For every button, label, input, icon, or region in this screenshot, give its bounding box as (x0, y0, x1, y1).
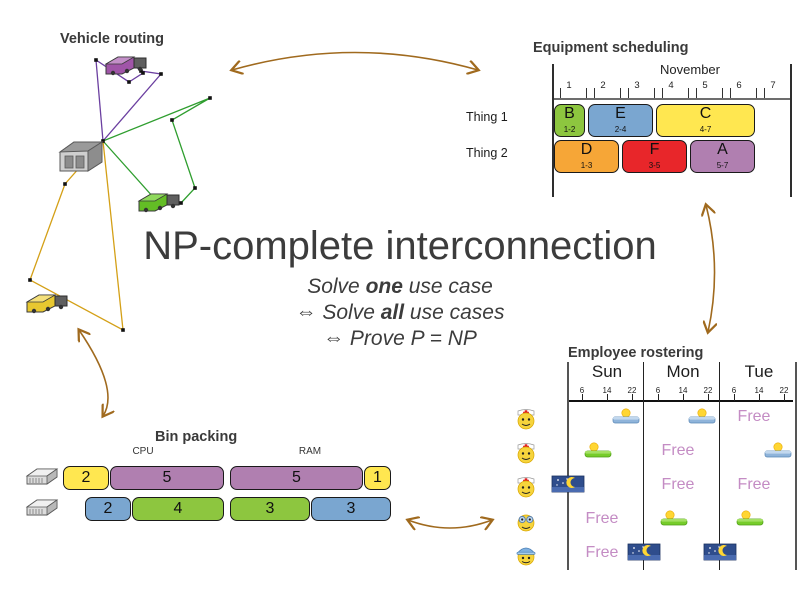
bin-item-value: 5 (111, 468, 223, 488)
bin-resource-header-ram: RAM (270, 446, 350, 457)
center-text-block: NP-complete interconnection Solve one us… (0, 222, 800, 352)
bin-item-value: 1 (365, 468, 390, 488)
bin-item-value: 4 (133, 499, 223, 519)
schedule-tick (560, 88, 561, 98)
roster-cell-morning-shift[interactable] (659, 508, 693, 528)
task-range: 5-7 (691, 161, 754, 171)
green-truck-icon (137, 189, 181, 213)
roster-tick (784, 394, 785, 401)
bin-item[interactable]: 4 (132, 497, 224, 521)
route-node (94, 58, 98, 62)
employee-nurse-1[interactable] (515, 406, 539, 432)
roster-cell-free[interactable]: Free (571, 544, 633, 562)
roster-cell-free[interactable]: Free (723, 476, 785, 494)
bin-packing-chart: CPURAM 25512433 (25, 446, 400, 541)
schedule-tick (696, 88, 697, 98)
schedule-tick (756, 88, 757, 98)
schedule-task-E[interactable]: E2-4 (588, 104, 653, 137)
route-node (127, 80, 131, 84)
schedule-axis (552, 98, 792, 100)
bin-item[interactable]: 3 (230, 497, 310, 521)
schedule-tick (654, 88, 655, 98)
afternoon-shift-icon (685, 406, 719, 426)
employee-nurse-3[interactable] (515, 474, 539, 500)
task-name: B (555, 104, 584, 124)
roster-tick (582, 394, 583, 401)
bin-resource-header-cpu: CPU (103, 446, 183, 457)
task-range: 2-4 (589, 125, 652, 135)
roster-day-sun: Sun (572, 362, 642, 382)
afternoon-shift-icon (609, 406, 643, 426)
schedule-day-7: 7 (766, 80, 780, 91)
schedule-task-C[interactable]: C4-7 (656, 104, 755, 137)
task-name: F (623, 140, 686, 160)
schedule-right-border (790, 64, 792, 197)
nurse-face-icon (515, 474, 537, 498)
bin-item-value: 2 (64, 468, 108, 488)
roster-day-divider (719, 362, 720, 570)
center-subtitle: Solve one use case ⇔ Solve all use cases… (0, 274, 800, 352)
roster-tick (683, 394, 684, 401)
schedule-row-label-2: Thing 2 (466, 146, 508, 160)
equipment-scheduling-title: Equipment scheduling (533, 40, 688, 56)
employee-rostering-title: Employee rostering (568, 345, 703, 361)
schedule-tick (620, 88, 621, 98)
task-name: A (691, 140, 754, 160)
route-node (208, 96, 212, 100)
night-shift-icon (703, 542, 737, 562)
arrow-routing-scheduling (232, 53, 478, 71)
bin-item-value: 2 (86, 499, 130, 519)
glasses-face-icon (515, 508, 537, 532)
roster-cell-morning-shift[interactable] (735, 508, 769, 528)
roster-cell-free[interactable]: Free (647, 442, 709, 460)
schedule-day-2: 2 (596, 80, 610, 91)
bin-item[interactable]: 1 (364, 466, 391, 490)
roster-cell-night-shift[interactable] (703, 542, 737, 562)
schedule-tick (722, 88, 723, 98)
schedule-tick (628, 88, 629, 98)
server-icon[interactable] (25, 496, 59, 518)
equipment-scheduling-chart: November 1234567 Thing 1Thing 2 B1-2E2-4… (530, 62, 792, 197)
purple-truck-icon (104, 52, 148, 76)
roster-cell-morning-shift[interactable] (583, 440, 617, 460)
schedule-row-label-1: Thing 1 (466, 110, 508, 124)
helmet-face-icon (515, 542, 537, 566)
bin-item[interactable]: 5 (230, 466, 363, 490)
roster-tick (658, 394, 659, 401)
nurse-face-icon (515, 440, 537, 464)
task-name: C (657, 104, 754, 124)
roster-tick (708, 394, 709, 401)
roster-cell-afternoon-shift[interactable] (685, 406, 719, 426)
bin-item[interactable]: 5 (110, 466, 224, 490)
roster-day-tue: Tue (724, 362, 794, 382)
morning-shift-icon (659, 508, 693, 528)
employee-nurse-2[interactable] (515, 440, 539, 466)
subtitle-line-1: Solve one use case (0, 274, 800, 300)
roster-tick (607, 394, 608, 401)
route-node (63, 182, 67, 186)
route-node (159, 72, 163, 76)
subtitle-line-2: ⇔ Solve all use cases (0, 300, 800, 326)
schedule-month-label: November (590, 62, 790, 77)
schedule-tick (688, 88, 689, 98)
schedule-day-1: 1 (562, 80, 576, 91)
bin-item-value: 3 (231, 499, 309, 519)
afternoon-shift-icon (761, 440, 795, 460)
task-range: 1-3 (555, 161, 618, 171)
roster-day-divider (643, 362, 644, 570)
roster-cell-night-shift[interactable] (551, 474, 585, 494)
vehicle-routing-title: Vehicle routing (60, 31, 164, 47)
route-node (170, 118, 174, 122)
schedule-tick (764, 88, 765, 98)
roster-cell-free[interactable]: Free (723, 408, 785, 426)
bin-item[interactable]: 2 (85, 497, 131, 521)
task-range: 3-5 (623, 161, 686, 171)
night-shift-icon (551, 474, 585, 494)
task-name: E (589, 104, 652, 124)
night-shift-icon (627, 542, 661, 562)
roster-tick (632, 394, 633, 401)
bin-packing-title: Bin packing (155, 429, 237, 445)
employee-rostering-chart: SunMonTue 614226142261422 FreeFreeFreeFr… (515, 362, 793, 574)
depot-icon (58, 140, 104, 174)
schedule-tick (662, 88, 663, 98)
roster-cell-free[interactable]: Free (647, 476, 709, 494)
bin-item-value: 3 (312, 499, 390, 519)
roster-day-divider (567, 362, 569, 570)
employee-doctor-glasses[interactable] (515, 508, 539, 534)
schedule-task-F[interactable]: F3-5 (622, 140, 687, 173)
roster-cell-free[interactable]: Free (571, 510, 633, 528)
bin-item-value: 5 (231, 468, 362, 488)
morning-shift-icon (735, 508, 769, 528)
green-route (103, 98, 210, 203)
roster-tick (734, 394, 735, 401)
roster-cell-afternoon-shift[interactable] (761, 440, 795, 460)
schedule-tick (730, 88, 731, 98)
arrow-rostering-binpacking (408, 520, 492, 528)
roster-tick (759, 394, 760, 401)
bin-item[interactable]: 3 (311, 497, 391, 521)
nurse-face-icon (515, 406, 537, 430)
schedule-tick (586, 88, 587, 98)
schedule-day-5: 5 (698, 80, 712, 91)
task-range: 4-7 (657, 125, 754, 135)
schedule-day-6: 6 (732, 80, 746, 91)
schedule-task-B[interactable]: B1-2 (554, 104, 585, 137)
schedule-tick (594, 88, 595, 98)
task-range: 1-2 (555, 125, 584, 135)
morning-shift-icon (583, 440, 617, 460)
task-name: D (555, 140, 618, 160)
roster-day-mon: Mon (648, 362, 718, 382)
schedule-task-D[interactable]: D1-3 (554, 140, 619, 173)
server-icon[interactable] (25, 465, 59, 487)
schedule-day-4: 4 (664, 80, 678, 91)
route-node (193, 186, 197, 190)
schedule-day-3: 3 (630, 80, 644, 91)
roster-cell-afternoon-shift[interactable] (609, 406, 643, 426)
roster-right-border (795, 362, 797, 570)
page-title: NP-complete interconnection (0, 222, 800, 270)
roster-cell-night-shift[interactable] (627, 542, 661, 562)
employee-helmet-worker[interactable] (515, 542, 539, 568)
bin-item[interactable]: 2 (63, 466, 109, 490)
schedule-task-A[interactable]: A5-7 (690, 140, 755, 173)
